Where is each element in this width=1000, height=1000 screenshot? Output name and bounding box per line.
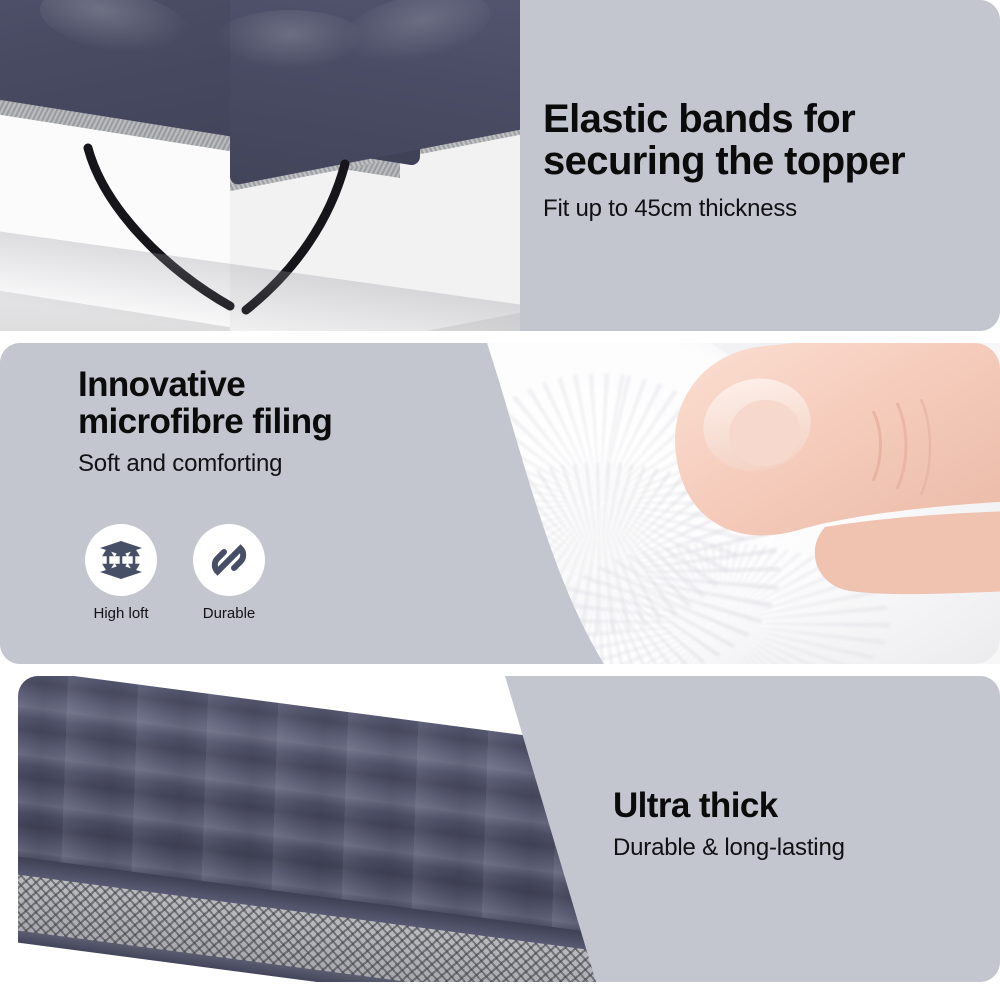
panel1-headline-line2: securing the topper xyxy=(543,140,983,182)
durable-badge xyxy=(193,524,265,596)
panel3-text-block: Ultra thick Durable & long-lasting xyxy=(613,787,993,862)
panel3-headline-line1: Ultra thick xyxy=(613,787,993,824)
feature-durable: Durable xyxy=(190,524,268,622)
panel3-subline: Durable & long-lasting xyxy=(613,834,993,862)
panel1-headline-line1: Elastic bands for xyxy=(543,98,983,140)
panel1-subline: Fit up to 45cm thickness xyxy=(543,195,983,223)
feature-badge-group: High loft Durable xyxy=(82,524,268,622)
feature-high-loft: High loft xyxy=(82,524,160,622)
panel1-text-block: Elastic bands for securing the topper Fi… xyxy=(543,98,983,223)
panel2-text-block: Innovative microfibre filing Soft and co… xyxy=(78,366,458,478)
panel1-photo-topper-corner xyxy=(0,0,520,331)
panel2-headline: Innovative microfibre filing xyxy=(78,366,458,440)
chain-link-icon xyxy=(207,538,251,582)
high-loft-icon xyxy=(98,537,144,583)
feature-label-high-loft: High loft xyxy=(93,605,148,622)
panel2-headline-line2: microfibre filing xyxy=(78,403,458,440)
panel2-headline-line1: Innovative xyxy=(78,366,458,403)
infographic-root: Elastic bands for securing the topper Fi… xyxy=(0,0,1000,1000)
panel-elastic-bands: Elastic bands for securing the topper Fi… xyxy=(0,0,1000,331)
panel1-headline: Elastic bands for securing the topper xyxy=(543,98,983,183)
panel2-subline: Soft and comforting xyxy=(78,450,458,478)
feature-label-durable: Durable xyxy=(203,605,256,622)
high-loft-badge xyxy=(85,524,157,596)
panel3-headline: Ultra thick xyxy=(613,787,993,824)
